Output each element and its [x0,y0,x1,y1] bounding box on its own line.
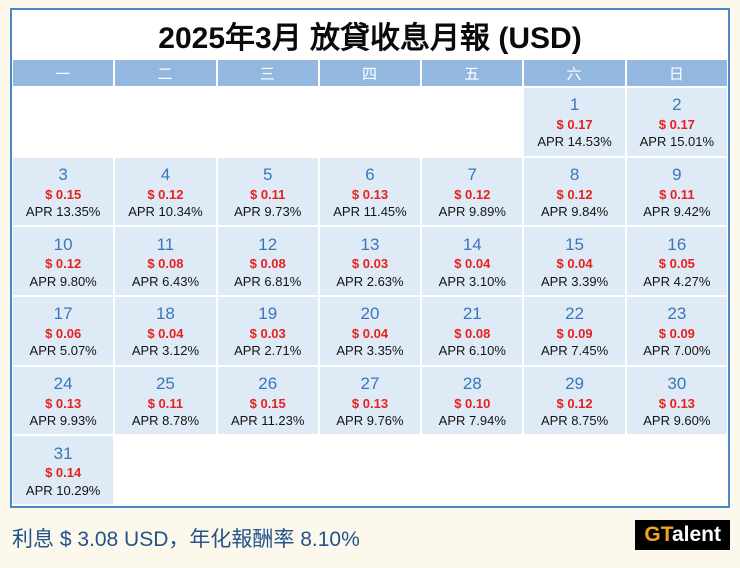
day-interest-amount: $ 0.12 [556,396,592,411]
day-cell-31[interactable]: 31$ 0.14APR 10.29% [13,436,113,504]
calendar-week-row: 10$ 0.12APR 9.80%11$ 0.08APR 6.43%12$ 0.… [13,227,727,295]
weekday-header-tue: 二 [115,60,215,86]
day-cell-21[interactable]: 21$ 0.08APR 6.10% [422,297,522,365]
weekday-header-mon: 一 [13,60,113,86]
day-interest-amount: $ 0.09 [659,326,695,341]
calendar-week-row: 3$ 0.15APR 13.35%4$ 0.12APR 10.34%5$ 0.1… [13,158,727,226]
day-interest-amount: $ 0.11 [659,187,694,202]
day-cell-5[interactable]: 5$ 0.11APR 9.73% [218,158,318,226]
day-interest-amount: $ 0.04 [454,256,490,271]
day-apr-value: APR 7.94% [439,413,506,428]
day-apr-value: APR 6.81% [234,274,301,289]
day-interest-amount: $ 0.13 [352,187,388,202]
day-cell-empty [115,436,215,504]
day-cell-empty [422,436,522,504]
day-interest-amount: $ 0.03 [352,256,388,271]
day-apr-value: APR 2.71% [234,343,301,358]
day-number: 25 [156,374,175,394]
weekday-header-row: 一 二 三 四 五 六 日 [12,60,728,86]
day-number: 16 [667,235,686,255]
day-apr-value: APR 3.10% [439,274,506,289]
day-number: 29 [565,374,584,394]
day-cell-4[interactable]: 4$ 0.12APR 10.34% [115,158,215,226]
day-cell-23[interactable]: 23$ 0.09APR 7.00% [627,297,727,365]
logo-rest-text: alent [672,523,721,546]
day-interest-amount: $ 0.15 [250,396,286,411]
day-cell-15[interactable]: 15$ 0.04APR 3.39% [524,227,624,295]
day-number: 11 [157,235,175,255]
weekday-header-thu: 四 [320,60,420,86]
day-number: 20 [361,304,380,324]
day-apr-value: APR 9.80% [30,274,97,289]
day-number: 31 [54,444,73,464]
day-cell-empty [218,88,318,156]
day-cell-24[interactable]: 24$ 0.13APR 9.93% [13,367,113,435]
day-cell-11[interactable]: 11$ 0.08APR 6.43% [115,227,215,295]
day-apr-value: APR 6.43% [132,274,199,289]
day-interest-amount: $ 0.12 [147,187,183,202]
day-interest-amount: $ 0.11 [148,396,183,411]
day-interest-amount: $ 0.06 [45,326,81,341]
day-interest-amount: $ 0.04 [556,256,592,271]
day-number: 5 [263,165,272,185]
day-number: 2 [672,95,681,115]
day-cell-8[interactable]: 8$ 0.12APR 9.84% [524,158,624,226]
gtalent-logo: GTalent [635,520,730,550]
monthly-lending-interest-report: 2025年3月 放貸收息月報 (USD) 一 二 三 四 五 六 日 1$ 0.… [0,0,740,568]
day-number: 19 [258,304,277,324]
day-number: 9 [672,165,681,185]
day-cell-22[interactable]: 22$ 0.09APR 7.45% [524,297,624,365]
day-interest-amount: $ 0.04 [352,326,388,341]
day-apr-value: APR 7.00% [643,343,710,358]
day-interest-amount: $ 0.11 [250,187,285,202]
day-number: 23 [667,304,686,324]
day-interest-amount: $ 0.08 [454,326,490,341]
day-interest-amount: $ 0.12 [45,256,81,271]
day-apr-value: APR 3.35% [336,343,403,358]
day-apr-value: APR 10.34% [128,204,202,219]
calendar-frame: 2025年3月 放貸收息月報 (USD) 一 二 三 四 五 六 日 1$ 0.… [10,8,730,508]
day-interest-amount: $ 0.14 [45,465,81,480]
day-cell-empty [320,436,420,504]
day-cell-2[interactable]: 2$ 0.17APR 15.01% [627,88,727,156]
day-interest-amount: $ 0.13 [659,396,695,411]
day-number: 27 [361,374,380,394]
day-apr-value: APR 9.93% [30,413,97,428]
day-cell-18[interactable]: 18$ 0.04APR 3.12% [115,297,215,365]
logo-accent-text: GT [644,523,672,546]
day-number: 7 [468,165,477,185]
day-number: 8 [570,165,579,185]
day-interest-amount: $ 0.17 [556,117,592,132]
day-interest-amount: $ 0.04 [147,326,183,341]
day-apr-value: APR 11.45% [333,204,406,219]
day-interest-amount: $ 0.17 [659,117,695,132]
day-apr-value: APR 2.63% [336,274,403,289]
day-apr-value: APR 10.29% [26,483,100,498]
day-apr-value: APR 14.53% [537,134,611,149]
day-cell-9[interactable]: 9$ 0.11APR 9.42% [627,158,727,226]
day-interest-amount: $ 0.05 [659,256,695,271]
day-cell-19[interactable]: 19$ 0.03APR 2.71% [218,297,318,365]
day-number: 4 [161,165,170,185]
day-interest-amount: $ 0.09 [556,326,592,341]
day-number: 26 [258,374,277,394]
day-apr-value: APR 15.01% [640,134,714,149]
day-apr-value: APR 9.60% [643,413,710,428]
title-bar: 2025年3月 放貸收息月報 (USD) [12,10,728,60]
day-cell-20[interactable]: 20$ 0.04APR 3.35% [320,297,420,365]
calendar-weeks: 1$ 0.17APR 14.53%2$ 0.17APR 15.01%3$ 0.1… [12,86,728,506]
day-apr-value: APR 3.39% [541,274,608,289]
day-interest-amount: $ 0.03 [250,326,286,341]
weekday-header-wed: 三 [218,60,318,86]
calendar-week-row: 24$ 0.13APR 9.93%25$ 0.11APR 8.78%26$ 0.… [13,367,727,435]
calendar-week-row: 1$ 0.17APR 14.53%2$ 0.17APR 15.01% [13,88,727,156]
day-interest-amount: $ 0.12 [556,187,592,202]
day-cell-10[interactable]: 10$ 0.12APR 9.80% [13,227,113,295]
day-interest-amount: $ 0.13 [45,396,81,411]
calendar-week-row: 17$ 0.06APR 5.07%18$ 0.04APR 3.12%19$ 0.… [13,297,727,365]
day-apr-value: APR 9.76% [336,413,403,428]
day-interest-amount: $ 0.13 [352,396,388,411]
footer: 利息 $ 3.08 USD，年化報酬率 8.10% GTalent [10,508,730,568]
day-cell-16[interactable]: 16$ 0.05APR 4.27% [627,227,727,295]
day-cell-empty [627,436,727,504]
day-cell-29[interactable]: 29$ 0.12APR 8.75% [524,367,624,435]
day-apr-value: APR 13.35% [26,204,100,219]
day-apr-value: APR 9.73% [234,204,301,219]
day-cell-1[interactable]: 1$ 0.17APR 14.53% [524,88,624,156]
day-number: 10 [54,235,73,255]
day-cell-17[interactable]: 17$ 0.06APR 5.07% [13,297,113,365]
day-interest-amount: $ 0.08 [147,256,183,271]
day-apr-value: APR 3.12% [132,343,199,358]
day-number: 1 [570,95,579,115]
day-cell-empty [115,88,215,156]
day-apr-value: APR 9.42% [643,204,710,219]
day-number: 13 [361,235,380,255]
day-interest-amount: $ 0.08 [250,256,286,271]
day-apr-value: APR 8.75% [541,413,608,428]
day-apr-value: APR 6.10% [439,343,506,358]
day-cell-empty [422,88,522,156]
day-cell-28[interactable]: 28$ 0.10APR 7.94% [422,367,522,435]
day-number: 14 [463,235,482,255]
day-cell-7[interactable]: 7$ 0.12APR 9.89% [422,158,522,226]
day-cell-empty [524,436,624,504]
calendar-week-row: 31$ 0.14APR 10.29% [13,436,727,504]
day-cell-empty [13,88,113,156]
day-number: 3 [58,165,67,185]
day-interest-amount: $ 0.12 [454,187,490,202]
day-apr-value: APR 5.07% [30,343,97,358]
weekday-header-sun: 日 [627,60,727,86]
day-interest-amount: $ 0.10 [454,396,490,411]
day-cell-26[interactable]: 26$ 0.15APR 11.23% [218,367,318,435]
page-title: 2025年3月 放貸收息月報 (USD) [158,13,581,57]
day-apr-value: APR 8.78% [132,413,199,428]
day-cell-empty [218,436,318,504]
day-cell-12[interactable]: 12$ 0.08APR 6.81% [218,227,318,295]
day-interest-amount: $ 0.15 [45,187,81,202]
day-apr-value: APR 11.23% [231,413,304,428]
day-number: 17 [54,304,73,324]
day-apr-value: APR 9.84% [541,204,608,219]
day-cell-6[interactable]: 6$ 0.13APR 11.45% [320,158,420,226]
weekday-header-fri: 五 [422,60,522,86]
day-number: 21 [463,304,482,324]
footer-summary: 利息 $ 3.08 USD，年化報酬率 8.10% [10,523,360,553]
day-number: 28 [463,374,482,394]
day-cell-27[interactable]: 27$ 0.13APR 9.76% [320,367,420,435]
day-number: 12 [258,235,277,255]
day-number: 24 [54,374,73,394]
day-cell-13[interactable]: 13$ 0.03APR 2.63% [320,227,420,295]
day-number: 22 [565,304,584,324]
day-number: 18 [156,304,175,324]
day-number: 15 [565,235,584,255]
weekday-header-sat: 六 [524,60,624,86]
day-apr-value: APR 4.27% [643,274,710,289]
day-apr-value: APR 7.45% [541,343,608,358]
day-number: 30 [667,374,686,394]
day-cell-empty [320,88,420,156]
day-cell-3[interactable]: 3$ 0.15APR 13.35% [13,158,113,226]
day-apr-value: APR 9.89% [439,204,506,219]
day-cell-14[interactable]: 14$ 0.04APR 3.10% [422,227,522,295]
day-cell-30[interactable]: 30$ 0.13APR 9.60% [627,367,727,435]
day-number: 6 [365,165,374,185]
day-cell-25[interactable]: 25$ 0.11APR 8.78% [115,367,215,435]
